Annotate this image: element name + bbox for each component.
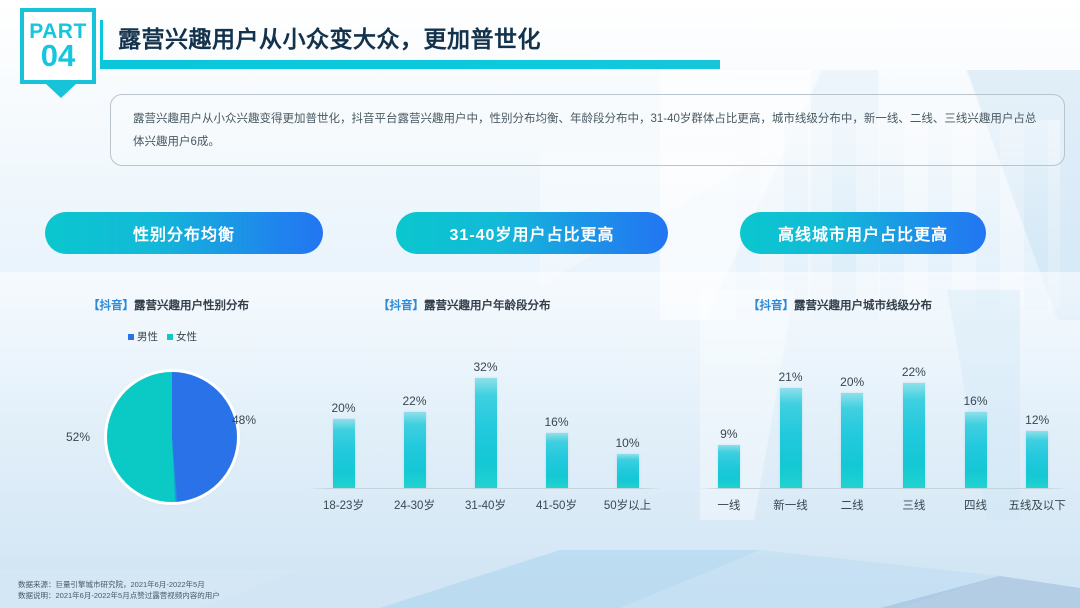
chart-title-tag: 【抖音】 <box>378 300 424 312</box>
city-axis-line <box>698 488 1068 489</box>
gender-pie-chart <box>107 372 237 502</box>
bar <box>718 445 740 488</box>
x-axis-label: 24-30岁 <box>379 497 450 513</box>
chart-title-tag: 【抖音】 <box>88 300 134 312</box>
bar-value-label: 20% <box>840 375 864 389</box>
bar <box>404 412 426 488</box>
bar <box>780 388 802 488</box>
part-badge-pointer-icon <box>46 84 76 98</box>
bar-value-label: 16% <box>544 415 568 429</box>
bar-column: 12% <box>1006 340 1068 488</box>
chart-title-age: 【抖音】露营兴趣用户年龄段分布 <box>378 297 551 313</box>
bar-column: 16% <box>945 340 1007 488</box>
legend-label-female: 女性 <box>176 329 197 344</box>
pie-label-female: 52% <box>66 430 90 444</box>
bar-column: 16% <box>521 340 592 488</box>
legend-swatch-male-icon <box>128 334 134 340</box>
legend-swatch-female-icon <box>167 334 173 340</box>
chart-title-tag: 【抖音】 <box>748 300 794 312</box>
bar-value-label: 9% <box>720 427 737 441</box>
bar-value-label: 16% <box>964 394 988 408</box>
footer-note: 数据说明：2021年6月-2022年5月点赞过露营视频内容的用户 <box>18 590 220 602</box>
x-axis-label: 18-23岁 <box>308 497 379 513</box>
pie-label-male: 48% <box>232 413 256 427</box>
title-underline-rule <box>102 60 720 69</box>
bar-column: 22% <box>379 340 450 488</box>
x-axis-label: 四线 <box>945 497 1007 513</box>
bar-column: 32% <box>450 340 521 488</box>
page-title: 露营兴趣用户从小众变大众，更加普世化 <box>118 20 541 54</box>
chart-title-gender: 【抖音】露营兴趣用户性别分布 <box>88 297 249 313</box>
part-badge-number: 04 <box>41 40 75 71</box>
chart-title-city: 【抖音】露营兴趣用户城市线级分布 <box>748 297 932 313</box>
part-badge: PART 04 <box>20 8 96 84</box>
slide-root: PART 04 露营兴趣用户从小众变大众，更加普世化 露营兴趣用户从小众兴趣变得… <box>0 0 1080 608</box>
bar-value-label: 12% <box>1025 413 1049 427</box>
x-axis-label: 41-50岁 <box>521 497 592 513</box>
age-x-labels: 18-23岁24-30岁31-40岁41-50岁50岁以上 <box>308 497 663 513</box>
bar <box>475 378 497 488</box>
bar-value-label: 32% <box>473 360 497 374</box>
bar-column: 10% <box>592 340 663 488</box>
footer-source: 数据来源：巨量引擎城市研究院，2021年6月-2022年5月 <box>18 579 220 591</box>
x-axis-label: 50岁以上 <box>592 497 663 513</box>
bar <box>333 419 355 488</box>
age-bar-chart: 20%22%32%16%10% 18-23岁24-30岁31-40岁41-50岁… <box>308 340 663 515</box>
x-axis-label: 二线 <box>821 497 883 513</box>
highlight-pill-age[interactable]: 31-40岁用户占比更高 <box>396 212 668 254</box>
bar-value-label: 22% <box>902 365 926 379</box>
bar-value-label: 21% <box>778 370 802 384</box>
highlight-pill-gender[interactable]: 性别分布均衡 <box>45 212 323 254</box>
description-box: 露营兴趣用户从小众兴趣变得更加普世化，抖音平台露营兴趣用户中，性别分布均衡、年龄… <box>110 94 1065 166</box>
bar-column: 9% <box>698 340 760 488</box>
city-bar-chart: 9%21%20%22%16%12% 一线新一线二线三线四线五线及以下 <box>698 340 1068 515</box>
gender-legend: 男性 女性 <box>128 329 197 344</box>
legend-item-female: 女性 <box>167 329 197 344</box>
bar <box>903 383 925 488</box>
bar <box>617 454 639 488</box>
bar <box>965 412 987 488</box>
footer-notes: 数据来源：巨量引擎城市研究院，2021年6月-2022年5月 数据说明：2021… <box>18 579 220 602</box>
bar-value-label: 10% <box>615 436 639 450</box>
city-bars: 9%21%20%22%16%12% <box>698 340 1068 488</box>
bar <box>546 433 568 488</box>
age-axis-line <box>308 488 663 489</box>
bar-value-label: 20% <box>331 401 355 415</box>
x-axis-label: 新一线 <box>760 497 822 513</box>
highlight-pill-city[interactable]: 高线城市用户占比更高 <box>740 212 986 254</box>
legend-item-male: 男性 <box>128 329 158 344</box>
bar-column: 22% <box>883 340 945 488</box>
x-axis-label: 五线及以下 <box>1006 497 1068 513</box>
x-axis-label: 31-40岁 <box>450 497 521 513</box>
city-x-labels: 一线新一线二线三线四线五线及以下 <box>698 497 1068 513</box>
chart-title-text: 露营兴趣用户性别分布 <box>134 300 249 312</box>
bar-column: 20% <box>308 340 379 488</box>
pie-slices <box>107 372 237 502</box>
bar <box>1026 431 1048 488</box>
legend-label-male: 男性 <box>137 329 158 344</box>
age-bars: 20%22%32%16%10% <box>308 340 663 488</box>
x-axis-label: 三线 <box>883 497 945 513</box>
bar-value-label: 22% <box>402 394 426 408</box>
chart-title-text: 露营兴趣用户城市线级分布 <box>794 300 932 312</box>
bar-column: 20% <box>821 340 883 488</box>
bar-column: 21% <box>760 340 822 488</box>
bar <box>841 393 863 488</box>
chart-title-text: 露营兴趣用户年龄段分布 <box>424 300 551 312</box>
x-axis-label: 一线 <box>698 497 760 513</box>
